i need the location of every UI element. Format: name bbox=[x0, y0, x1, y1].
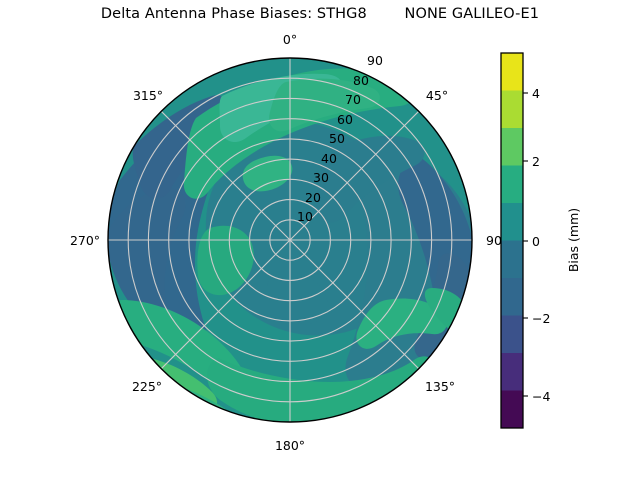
colorbar-band-4 bbox=[501, 241, 523, 279]
polar-plot-svg: 10 20 30 40 50 60 70 80 90 0° 45° 90 135… bbox=[0, 0, 640, 480]
radial-tick-60: 60 bbox=[337, 112, 353, 127]
azimuth-label-180: 180° bbox=[275, 438, 305, 453]
colorbar-band-5 bbox=[501, 203, 523, 241]
colorbar-band-8 bbox=[501, 91, 523, 129]
radial-tick-10: 10 bbox=[297, 209, 313, 224]
polar-grid bbox=[108, 58, 472, 422]
radial-tick-70: 70 bbox=[345, 92, 361, 107]
azimuth-label-0: 0° bbox=[283, 32, 297, 47]
azimuth-label-45: 45° bbox=[426, 88, 448, 103]
colorbar-ticklabel-m4: −4 bbox=[532, 389, 550, 404]
azimuth-label-225: 225° bbox=[132, 379, 162, 394]
radial-tick-20: 20 bbox=[305, 190, 321, 205]
azimuth-label-135: 135° bbox=[425, 379, 455, 394]
colorbar-ticklabel-2: 2 bbox=[532, 154, 540, 169]
colorbar-band-1 bbox=[501, 353, 523, 391]
radial-tick-80: 80 bbox=[353, 73, 369, 88]
colorbar-band-7 bbox=[501, 128, 523, 166]
radial-tick-90: 90 bbox=[367, 53, 383, 68]
colorbar-band-9 bbox=[501, 53, 523, 91]
colorbar-bands bbox=[501, 53, 523, 428]
colorbar-ticklabel-m2: −2 bbox=[532, 311, 550, 326]
colorbar-axis-label: Bias (mm) bbox=[566, 208, 581, 272]
colorbar-ticks bbox=[523, 93, 528, 396]
azimuth-label-90: 90 bbox=[486, 233, 502, 248]
page-title: Delta Antenna Phase Biases: STHG8 NONE G… bbox=[0, 6, 640, 22]
radial-tick-30: 30 bbox=[313, 170, 329, 185]
colorbar-tick-labels: 4 2 0 −2 −4 bbox=[532, 86, 550, 404]
azimuth-label-315: 315° bbox=[133, 88, 163, 103]
azimuth-label-270: 270° bbox=[70, 233, 100, 248]
radial-tick-50: 50 bbox=[329, 131, 345, 146]
colorbar-band-6 bbox=[501, 166, 523, 204]
radial-tick-40: 40 bbox=[321, 151, 337, 166]
colorbar-band-2 bbox=[501, 316, 523, 354]
colorbar-ticklabel-0: 0 bbox=[532, 234, 540, 249]
colorbar-band-3 bbox=[501, 278, 523, 316]
colorbar-ticklabel-4: 4 bbox=[532, 86, 540, 101]
figure-canvas: Delta Antenna Phase Biases: STHG8 NONE G… bbox=[0, 0, 640, 480]
colorbar[interactable]: 4 2 0 −2 −4 Bias (mm) bbox=[501, 53, 581, 428]
colorbar-band-0 bbox=[501, 391, 523, 429]
